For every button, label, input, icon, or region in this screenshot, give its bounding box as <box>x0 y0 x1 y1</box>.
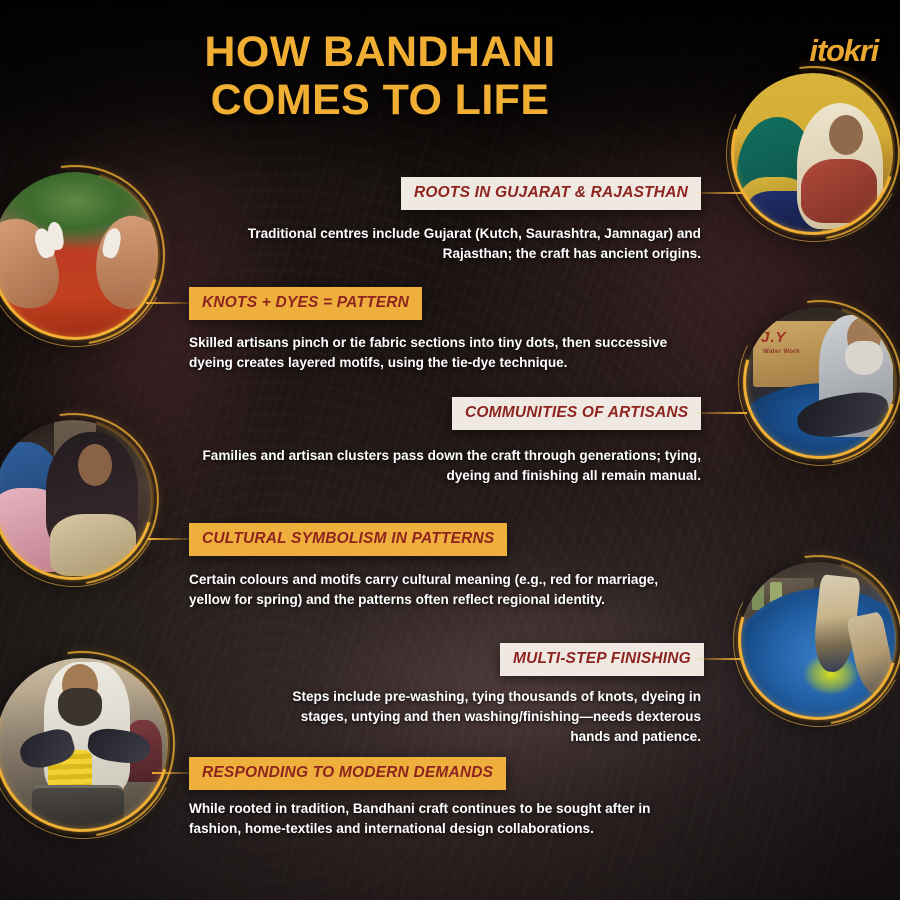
photo-tying-red-fabric <box>0 172 158 338</box>
connector-line-roots <box>697 192 743 194</box>
title-line-2: COMES TO LIFE <box>0 76 760 124</box>
page-title: HOW BANDHANI COMES TO LIFE <box>0 28 760 124</box>
connector-line-finishing <box>697 658 743 660</box>
photo-artisan-women <box>0 420 152 578</box>
section-body-modern-demands: While rooted in tradition, Bandhani craf… <box>189 799 659 839</box>
section-heading-communities[interactable]: COMMUNITIES OF ARTISANS <box>452 397 701 430</box>
section-body-finishing: Steps include pre-washing, tying thousan… <box>263 687 701 747</box>
connector-line-modern-demands <box>152 772 190 774</box>
section-body-roots: Traditional centres include Gujarat (Kut… <box>230 224 701 264</box>
connector-line-communities <box>697 412 747 414</box>
section-body-communities: Families and artisan clusters pass down … <box>200 446 701 486</box>
section-heading-modern-demands[interactable]: RESPONDING TO MODERN DEMANDS <box>189 757 506 790</box>
section-heading-knots-dyes[interactable]: KNOTS + DYES = PATTERN <box>189 287 422 320</box>
photo-yellow-dyed-cloth <box>0 658 168 830</box>
photo-dyer-blue-vat: J.Y Water Work <box>745 307 895 457</box>
section-body-symbolism: Certain colours and motifs carry cultura… <box>189 570 661 610</box>
photo-indigo-vat <box>740 562 896 718</box>
section-heading-roots[interactable]: ROOTS IN GUJARAT & RAJASTHAN <box>401 177 701 210</box>
brand-logo[interactable]: itokri <box>809 33 878 69</box>
section-heading-finishing[interactable]: MULTI-STEP FINISHING <box>500 643 704 676</box>
section-body-knots-dyes: Skilled artisans pinch or tie fabric sec… <box>189 333 669 373</box>
title-line-1: HOW BANDHANI <box>204 28 555 76</box>
connector-line-symbolism <box>148 538 190 540</box>
infographic-canvas: HOW BANDHANI COMES TO LIFE itokri <box>0 0 900 900</box>
photo-women-tying-knots <box>733 73 893 233</box>
connector-line-knots-dyes <box>146 302 190 304</box>
section-heading-symbolism[interactable]: CULTURAL SYMBOLISM IN PATTERNS <box>189 523 507 556</box>
